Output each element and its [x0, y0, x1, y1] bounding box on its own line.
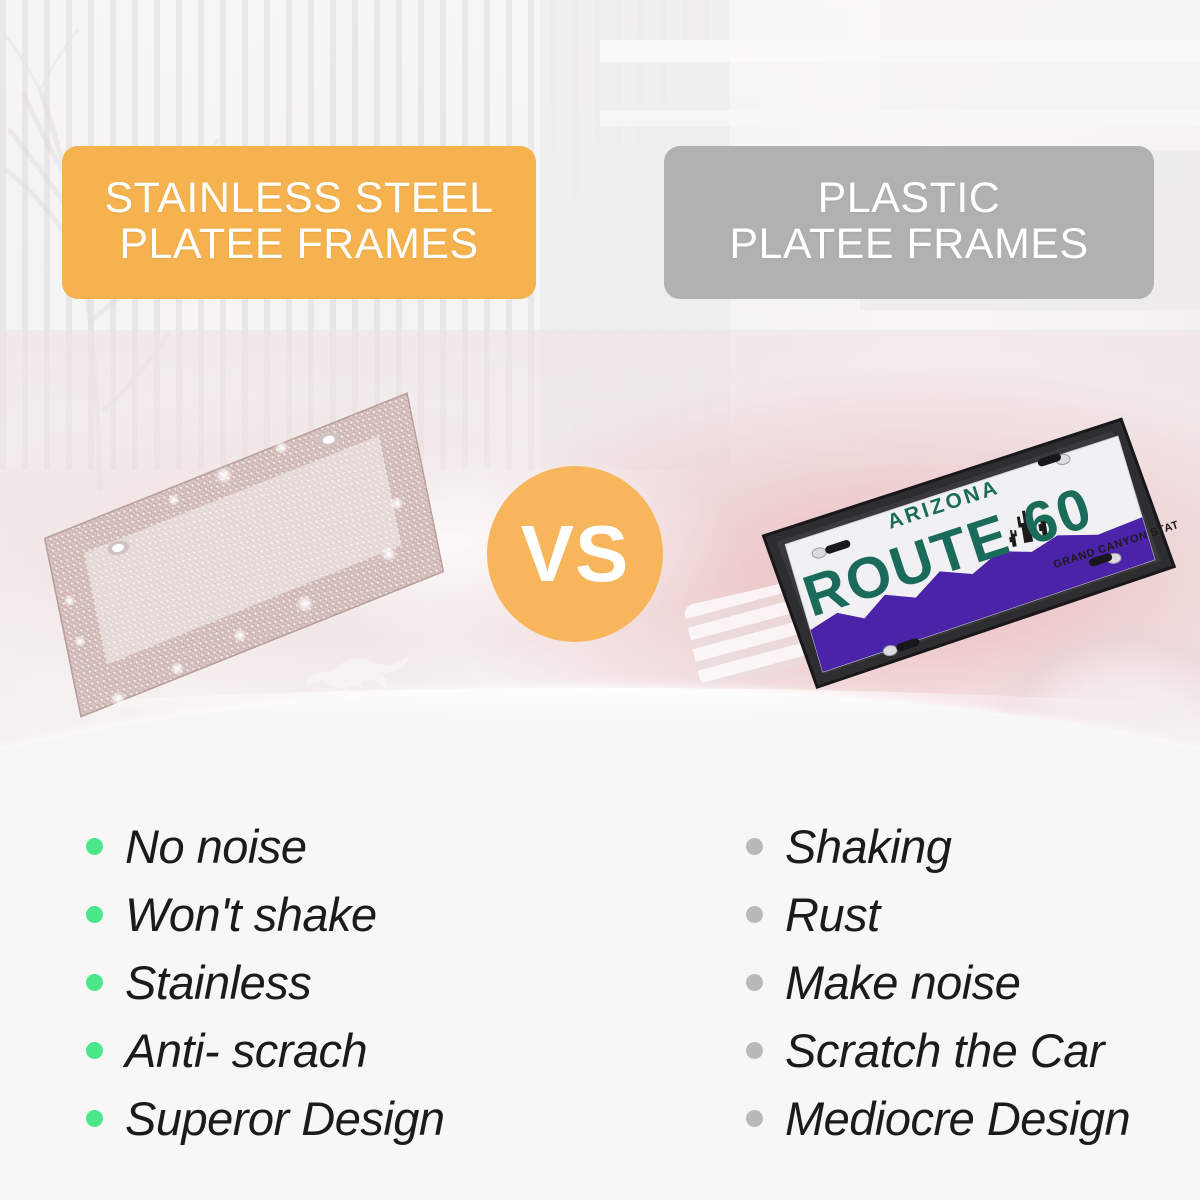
banner-left-line1: STAINLESS STEEL [104, 176, 493, 222]
ceiling-beam-lower [600, 110, 1200, 126]
feature-label: Make noise [785, 955, 1020, 1010]
ceiling-beam-upper [600, 40, 1200, 62]
banner-right-line1: PLASTIC [729, 176, 1088, 222]
bullet-icon [746, 1110, 763, 1127]
feature-label: Rust [785, 887, 880, 942]
bullet-icon [746, 906, 763, 923]
banner-right-line2: PLATEE FRAMES [729, 222, 1088, 268]
bullet-icon [746, 1042, 763, 1059]
banner-left-line2: PLATEE FRAMES [104, 222, 493, 268]
feature-label: Shaking [785, 819, 951, 874]
vs-badge: VS [487, 466, 663, 642]
feature-label: Mediocre Design [785, 1091, 1130, 1146]
bullet-icon [746, 838, 763, 855]
banner-plastic: PLASTIC PLATEE FRAMES [664, 146, 1154, 299]
feature-comparison-lists: No noise Won't shake Stainless Anti- scr… [0, 812, 1200, 1112]
banner-stainless-steel: STAINLESS STEEL PLATEE FRAMES [62, 146, 536, 299]
bullet-icon [86, 1110, 103, 1127]
comparison-infographic: ARIZONA ROUTE 60 GRAND CANYON STATE STAI… [0, 0, 1200, 1200]
bullet-icon [746, 974, 763, 991]
feature-list-plastic: Shaking Rust Make noise Scratch the Car … [0, 812, 746, 1112]
feature-label: Scratch the Car [785, 1023, 1104, 1078]
vs-badge-label: VS [521, 508, 630, 600]
